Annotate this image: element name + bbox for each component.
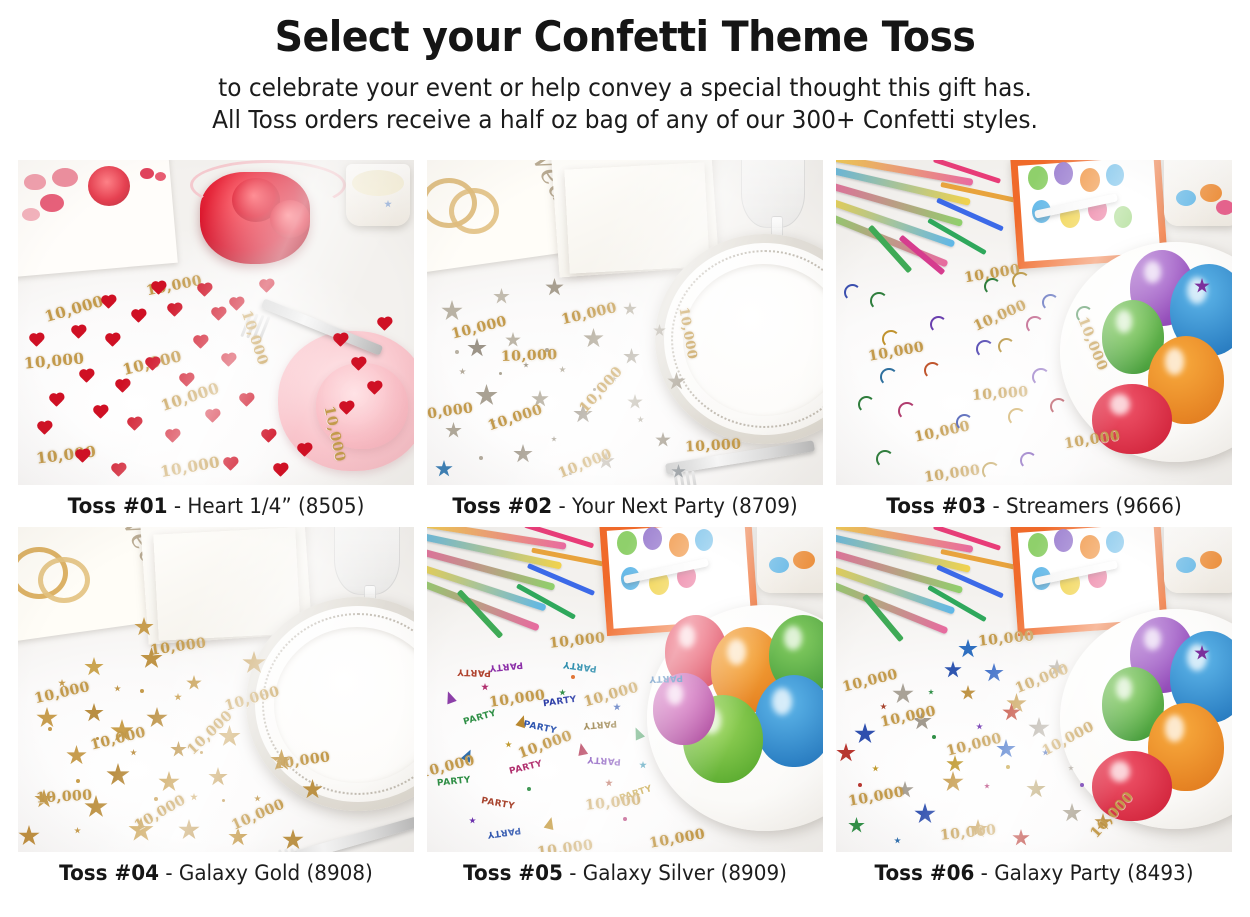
toss-caption-4: Toss #04 - Galaxy Gold (8908) [28,852,404,894]
toss-caption-2: Toss #02 - Your Next Party (8709) [437,485,813,527]
toss-caption-3: Toss #03 - Streamers (9666) [846,485,1222,527]
toss-number-5: Toss #05 [463,861,563,885]
toss-separator-1: - [167,494,187,518]
toss-photo-6[interactable]: 10,000 10,000 10,000 10,000 10,000 10,00… [836,527,1232,852]
toss-name-4: Galaxy Gold (8908) [179,861,373,885]
toss-item-6[interactable]: 10,000 10,000 10,000 10,000 10,000 10,00… [836,527,1232,894]
poster-header: Select your Confetti Theme Toss to celeb… [0,0,1250,136]
toss-item-5[interactable]: PARTY PARTY PARTY PARTY PARTY PARTY PART… [427,527,823,894]
scene-streamers: 10,000 10,000 10,000 10,000 10,000 10,00… [836,160,1232,485]
scene-valentine: 10,000 10,000 10,000 10,000 10,000 10,00… [18,160,414,485]
toss-item-4[interactable]: Wedding [18,527,414,894]
toss-item-1[interactable]: 10,000 10,000 10,000 10,000 10,000 10,00… [18,160,414,527]
toss-number-6: Toss #06 [874,861,974,885]
subtitle-line-2: All Toss orders receive a half oz bag of… [44,104,1207,136]
toss-number-2: Toss #02 [452,494,552,518]
toss-caption-1: Toss #01 - Heart 1/4” (8505) [28,485,404,527]
scene-wedding-gold: Wedding [18,527,414,852]
toss-caption-6: Toss #06 - Galaxy Party (8493) [846,852,1222,894]
toss-separator-3: - [986,494,1006,518]
toss-number-1: Toss #01 [68,494,168,518]
toss-separator-4: - [159,861,179,885]
toss-caption-5: Toss #05 - Galaxy Silver (8909) [437,852,813,894]
toss-photo-4[interactable]: Wedding [18,527,414,852]
toss-name-1: Heart 1/4” (8505) [187,494,364,518]
toss-separator-5: - [563,861,583,885]
toss-number-4: Toss #04 [59,861,159,885]
toss-photo-3[interactable]: 10,000 10,000 10,000 10,000 10,000 10,00… [836,160,1232,485]
toss-photo-5[interactable]: PARTY PARTY PARTY PARTY PARTY PARTY PART… [427,527,823,852]
toss-name-3: Streamers (9666) [1006,494,1182,518]
toss-separator-6: - [974,861,994,885]
toss-number-3: Toss #03 [886,494,986,518]
scene-wedding-silver: Wedding [427,160,823,485]
toss-name-5: Galaxy Silver (8909) [583,861,787,885]
toss-name-6: Galaxy Party (8493) [994,861,1193,885]
toss-name-2: Your Next Party (8709) [572,494,798,518]
toss-item-3[interactable]: 10,000 10,000 10,000 10,000 10,000 10,00… [836,160,1232,527]
toss-grid: 10,000 10,000 10,000 10,000 10,000 10,00… [18,160,1232,894]
scene-party-words: PARTY PARTY PARTY PARTY PARTY PARTY PART… [427,527,823,852]
subtitle-line-1: to celebrate your event or help convey a… [44,72,1207,104]
page-subtitle: to celebrate your event or help convey a… [44,72,1207,136]
page-title: Select your Confetti Theme Toss [38,16,1213,58]
toss-item-2[interactable]: Wedding [427,160,823,527]
poster-page: Select your Confetti Theme Toss to celeb… [0,0,1250,917]
toss-photo-1[interactable]: 10,000 10,000 10,000 10,000 10,000 10,00… [18,160,414,485]
toss-photo-2[interactable]: Wedding [427,160,823,485]
scene-party-stars: 10,000 10,000 10,000 10,000 10,000 10,00… [836,527,1232,852]
toss-separator-2: - [552,494,572,518]
